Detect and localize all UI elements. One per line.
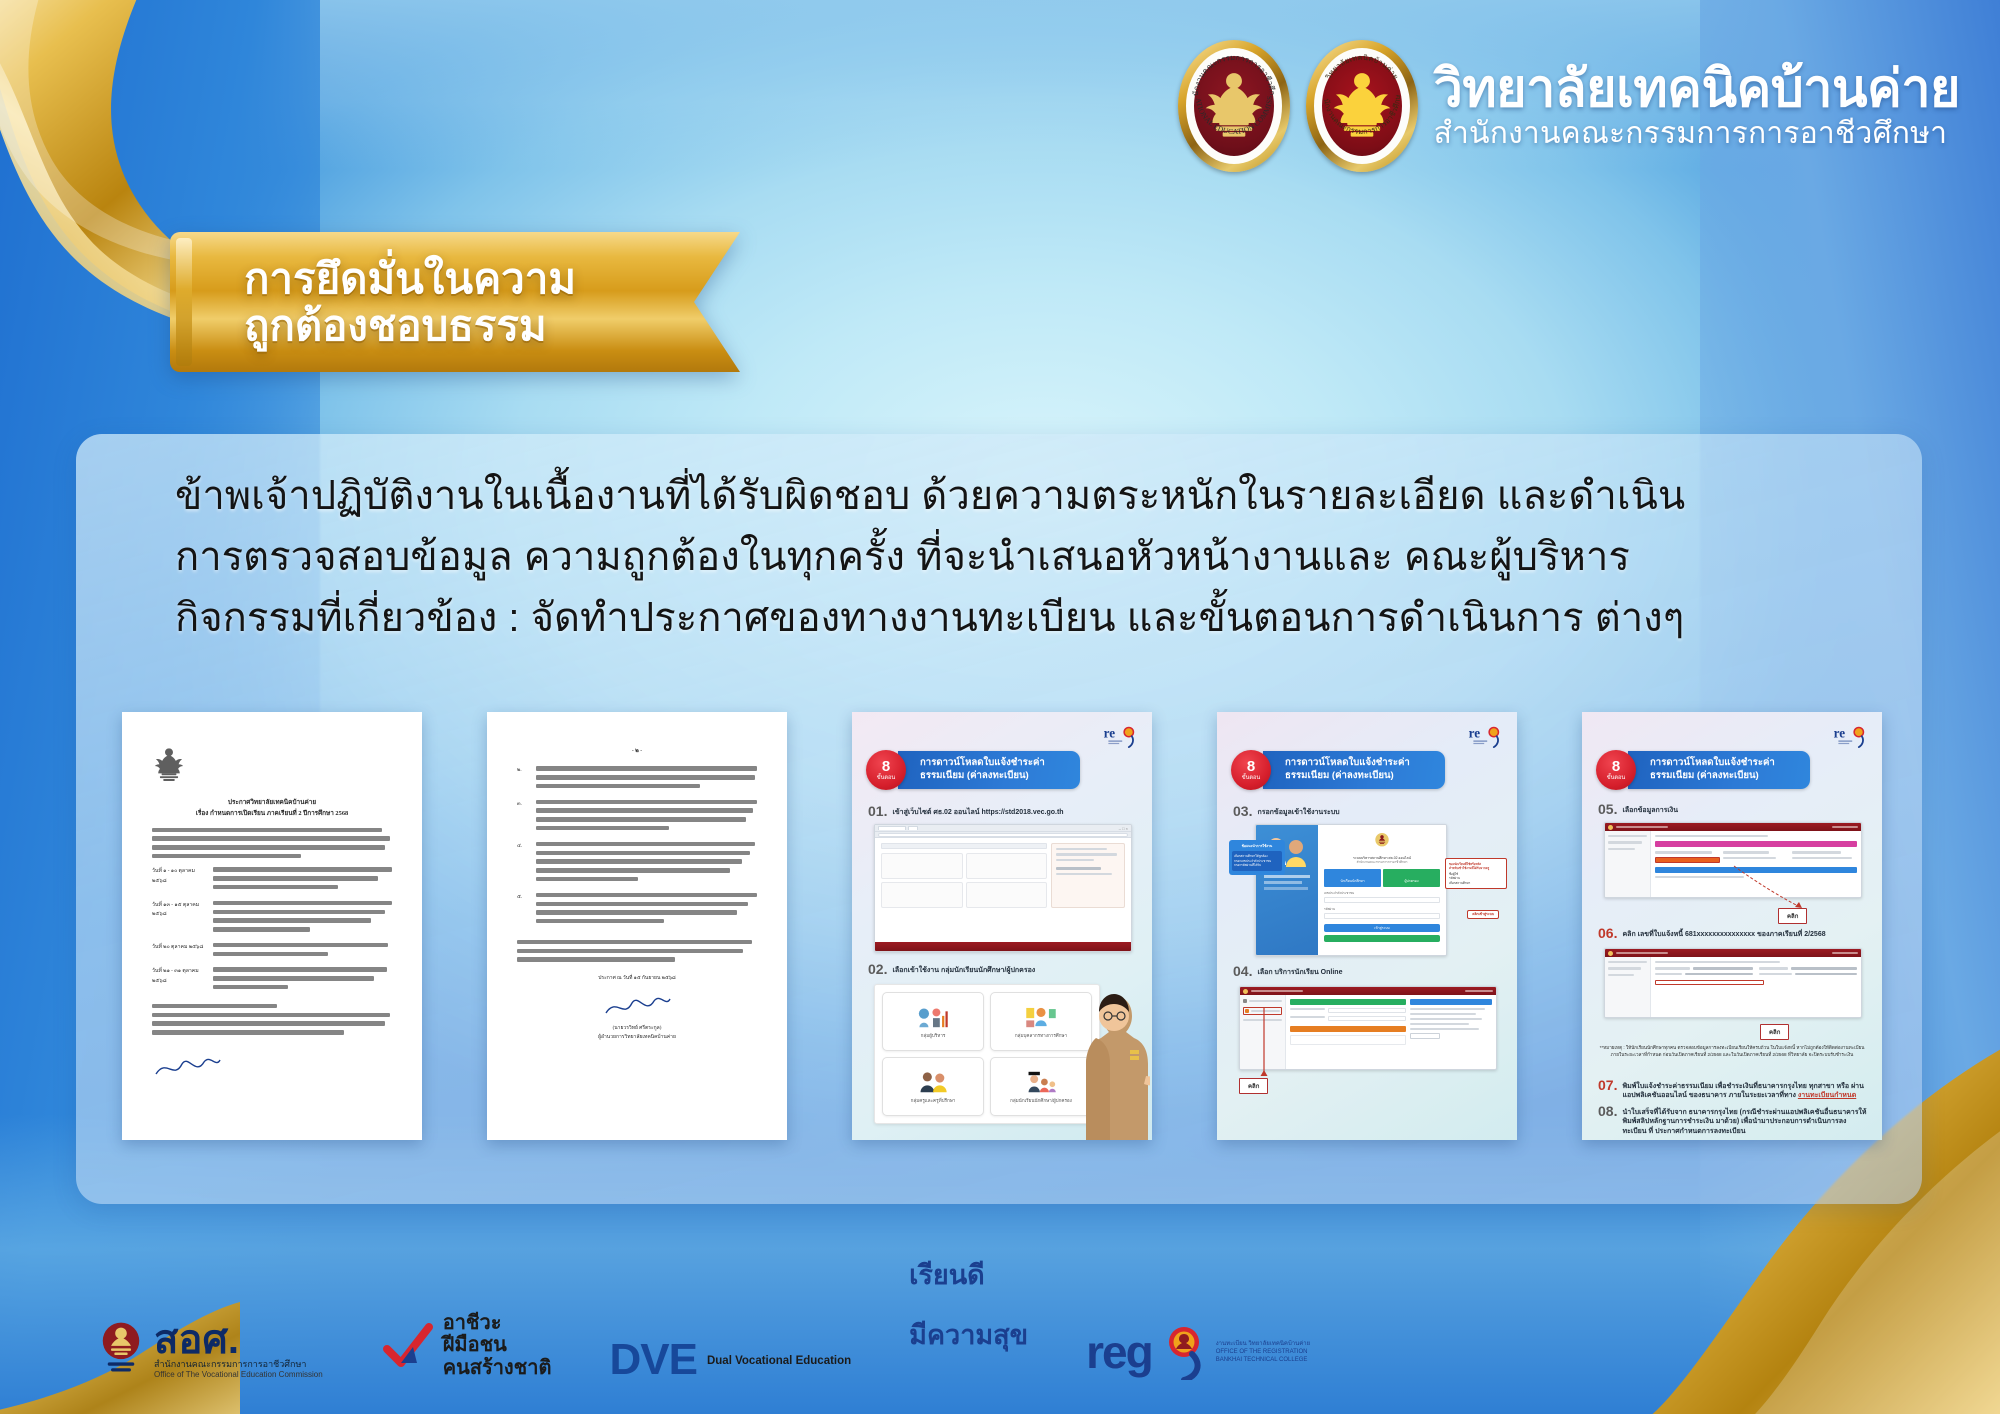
user-type-tile[interactable]: กลุ่มนักเรียนนักศึกษา/ผู้ปกครอง — [990, 1057, 1092, 1116]
banner-title: การยึดมั่นในความ ถูกต้องชอบธรรม — [244, 255, 576, 349]
achiwa-line-1: อาชีวะ — [443, 1312, 552, 1335]
garuda-icon — [152, 746, 186, 786]
doc1-heading-2: เรื่อง กำหนดการเปิดเรียน ภาคเรียนที่ 2 ป… — [152, 808, 392, 820]
login-heading-2: สำนักงานคณะกรรมการการอาชีวศึกษา — [1324, 860, 1440, 865]
admin-group-icon — [916, 1004, 950, 1030]
sosor-sub-en: Office of The Vocational Education Commi… — [154, 1370, 323, 1380]
section-banner: การยึดมั่นในความ ถูกต้องชอบธรรม — [170, 232, 740, 372]
browser-page — [875, 838, 1131, 952]
invoice-sidebar — [1605, 957, 1651, 1018]
step-number: 08. — [1598, 1104, 1617, 1118]
seal-ring-text-2: วิทยาลัยเทคนิคบ้านค่าย สำนักงานคณะกรรมกา… — [1312, 46, 1412, 146]
doc1-item: วันที่ ๒๑ - ๓๑ ตุลาคม ๒๕๖๘ — [152, 967, 392, 993]
dashboard-content — [1286, 995, 1496, 1070]
statement-line-2: การตรวจสอบข้อมูล ความถูกต้องในทุกครั้ง ท… — [175, 527, 1875, 588]
hint-right-title: ของนักเรียนที่ใช้หรือรหัส สำหรับเข้าใช้ง… — [1449, 862, 1503, 870]
finance-topbar — [1605, 823, 1861, 831]
sosor-sub-th: สำนักงานคณะกรรมการการอาชีวศึกษา — [154, 1359, 323, 1370]
slide3-note: **หมายเหตุ : ให้นักเรียนนักศึกษาทุกคน ตร… — [1598, 1044, 1866, 1059]
login-hint-left: ข้อแนะนำการใช้งาน เลือกสถานศึกษาให้ถูกต้… — [1229, 840, 1285, 875]
login-pass-label: รหัสผ่าน — [1324, 907, 1440, 912]
dve-caption: Dual Vocational Education — [707, 1355, 851, 1367]
doc2-item: ๕. — [517, 893, 757, 928]
doc2-item-label: ๓. — [517, 800, 531, 810]
step-text: เลือก บริการนักเรียน Online — [1257, 964, 1342, 977]
step-number: 04. — [1233, 964, 1252, 978]
statement-paragraph: ข้าพเจ้าปฏิบัติงานในเนื้องานที่ได้รับผิด… — [175, 466, 1875, 648]
doc2-item-label: ๔. — [517, 842, 531, 852]
browser-tab-bar: – □ × — [875, 825, 1131, 832]
rian-dee-logo: เรียนดี มีความสุข — [909, 1232, 1028, 1380]
reg-footer-logo: reg งานทะเบียน วิทยาลัยเทคนิคบ้านค่าย OF… — [1086, 1324, 1310, 1380]
slide1-browser-mock: – □ × — [874, 824, 1132, 952]
login-hint-right: ของนักเรียนที่ใช้หรือรหัส สำหรับเข้าใช้ง… — [1445, 858, 1507, 889]
login-hint-bottom: คลิกเข้าสู่ระบบ — [1467, 910, 1499, 919]
doc1-footer-note — [152, 1004, 392, 1035]
login-user-label: เลขประจำตัวประชาชน — [1324, 891, 1440, 896]
step-text: เข้าสู่เว็บไซต์ ศธ.02 ออนไลน์ https://st… — [892, 804, 1063, 817]
statement-line-1: ข้าพเจ้าปฏิบัติงานในเนื้องานที่ได้รับผิด… — [175, 466, 1875, 527]
document-thumbnail-2[interactable]: - ๒ - ๒. ๓. ๔. ๕. ประกาศ ณ วันที่ ๑๕ ก — [487, 712, 787, 1140]
college-name: วิทยาลัยเทคนิคบ้านค่าย — [1434, 62, 1960, 116]
invoice-number-link[interactable] — [1655, 980, 1764, 985]
slide3-title-block: 8 ขั้นตอน การดาวน์โหลดใบแจ้งชำระค่า ธรรม… — [1596, 750, 1810, 790]
login-user-input[interactable] — [1324, 897, 1440, 903]
slide3-title: การดาวน์โหลดใบแจ้งชำระค่า ธรรมเนียม (ค่า… — [1628, 751, 1810, 789]
sosor-main-label: สอศ. — [154, 1321, 323, 1359]
student-parent-group-icon — [1024, 1069, 1058, 1095]
dve-main-label: DVE — [609, 1340, 696, 1380]
svg-text:re: re — [1834, 726, 1846, 741]
svg-text:สำนักงานคณะกรรมการการอาชีวศึกษ: สำนักงานคณะกรรมการการอาชีวศึกษา — [1184, 46, 1277, 96]
signature-icon-2 — [602, 993, 672, 1019]
doc2-item-label: ๒. — [517, 766, 531, 776]
banner-plate: การยึดมั่นในความ ถูกต้องชอบธรรม — [170, 232, 740, 372]
doc2-sign-role: ผู้อำนวยการวิทยาลัยเทคนิคบ้านค่าย — [517, 1033, 757, 1042]
doc1-item-label: วันที่ ๑ - ๑๐ ตุลาคม ๒๕๖๘ — [152, 867, 208, 886]
doc1-item: วันที่ ๒๐ ตุลาคม ๒๕๖๘ — [152, 943, 392, 961]
slide3-step-07: 07. พิมพ์ใบแจ้งชำระค่าธรรมเนียม เพื่อชำร… — [1598, 1078, 1870, 1101]
slide2-title-block: 8 ขั้นตอน การดาวน์โหลดใบแจ้งชำระค่า ธรรม… — [1231, 750, 1445, 790]
infographic-slide-2[interactable]: re 8 ขั้นตอน การดาวน์โหลดใบแจ้งชำระค่า ธ… — [1217, 712, 1517, 1140]
badge-caption: ขั้นตอน — [1242, 775, 1260, 782]
header: สำนักงานคณะกรรมการการอาชีวศึกษา VOCATION… — [1178, 40, 1960, 172]
slide3-step-06: 06. คลิก เลขที่ใบแจ้งหนี้ 681xxxxxxxxxxx… — [1598, 926, 1870, 940]
step-number: 07. — [1598, 1078, 1617, 1092]
doc2-note — [517, 940, 757, 962]
sosor-logo: สอศ. สำนักงานคณะกรรมการการอาชีวศึกษา Off… — [96, 1321, 323, 1380]
reg-main-label: reg — [1086, 1325, 1152, 1379]
check-mark-icon — [381, 1319, 435, 1373]
step-text: เลือกข้อมูลการเงิน — [1622, 802, 1678, 815]
doc1-item-label: วันที่ ๒๐ ตุลาคม ๒๕๖๘ — [152, 943, 208, 953]
finance-selected-item[interactable] — [1655, 857, 1720, 863]
badge-number: 8 — [1247, 759, 1255, 774]
badge-caption: ขั้นตอน — [877, 775, 895, 782]
doc1-intro — [152, 828, 392, 859]
doc1-item-label: วันที่ ๑๓ - ๑๕ ตุลาคม ๒๕๖๘ — [152, 901, 208, 920]
reg-emblem-icon — [1158, 1324, 1210, 1380]
seal-ring-text: สำนักงานคณะกรรมการการอาชีวศึกษา VOCATION… — [1184, 46, 1284, 146]
achiwa-line-3: คนสร้างชาติ — [443, 1357, 552, 1380]
footer-logos: สอศ. สำนักงานคณะกรรมการการอาชีวศึกษา Off… — [96, 1232, 1310, 1380]
callout-arrow-icon — [1257, 1008, 1271, 1078]
badge-number: 8 — [1612, 759, 1620, 774]
hint-item: กรอกรหัสผ่านที่ได้รับ — [1234, 863, 1280, 868]
login-form: ระบบบริหารสถานศึกษา ศธ.02 ออนไลน์ สำนักง… — [1318, 825, 1446, 955]
dashboard-mock — [1239, 986, 1497, 1070]
infographic-slide-1[interactable]: re 8 ขั้นตอน การดาวน์โหลดใบแจ้งชำระค่า ธ… — [852, 712, 1152, 1140]
user-type-label: กลุ่มนักเรียนนักศึกษา/ผู้ปกครอง — [1010, 1098, 1072, 1104]
doc2-item: ๒. — [517, 766, 757, 792]
doc2-sign-block: ประกาศ ณ วันที่ ๑๕ กันยายน ๒๕๖๘ (นายวรวิ… — [517, 974, 757, 1042]
signature-icon — [152, 1054, 222, 1080]
browser-tab — [878, 826, 906, 831]
step-count-badge: 8 ขั้นตอน — [866, 750, 906, 790]
browser-footer-bar — [875, 942, 1131, 951]
badge-caption: ขั้นตอน — [1607, 775, 1625, 782]
slide3-step-08: 08. นำใบเสร็จที่ได้รับจาก ธนาคารกรุงไทย … — [1598, 1104, 1870, 1136]
slide3-step-05: 05. เลือกข้อมูลการเงิน — [1598, 802, 1678, 816]
hint-title: ข้อแนะนำการใช้งาน — [1232, 844, 1282, 848]
slide2-step-04: 04. เลือก บริการนักเรียน Online — [1233, 964, 1342, 978]
doc1-item: วันที่ ๑๓ - ๑๕ ตุลาคม ๒๕๖๘ — [152, 901, 392, 936]
step-number: 02. — [868, 962, 887, 976]
doc1-item-label: วันที่ ๒๑ - ๓๑ ตุลาคม ๒๕๖๘ — [152, 967, 208, 986]
reg-cap-1: งานทะเบียน วิทยาลัยเทคนิคบ้านค่าย — [1216, 1340, 1310, 1348]
reg-cap-2: OFFICE OF THE REGISTRATION — [1216, 1348, 1310, 1356]
reg-cap-3: BANKHAI TECHNICAL COLLEGE — [1216, 1356, 1310, 1364]
reg-logo-icon: re — [1833, 723, 1869, 749]
slide1-step-02: 02. เลือกเข้าใช้งาน กลุ่มนักเรียนนักศึกษ… — [868, 962, 1035, 976]
login-pass-input[interactable] — [1324, 913, 1440, 919]
step-text: เลือกเข้าใช้งาน กลุ่มนักเรียนนักศึกษา/ผู… — [892, 962, 1035, 975]
rian-line-1: เรียนดี — [909, 1261, 1028, 1291]
user-type-label: กลุ่มผู้บริหาร — [921, 1033, 946, 1039]
step-number: 06. — [1598, 926, 1617, 940]
slide2-title: การดาวน์โหลดใบแจ้งชำระค่า ธรรมเนียม (ค่า… — [1263, 751, 1445, 789]
doc1-heading-1: ประกาศวิทยาลัยเทคนิคบ้านค่าย — [152, 797, 392, 809]
step-text: พิมพ์ใบแจ้งชำระค่าธรรมเนียม เพื่อชำระเงิ… — [1622, 1078, 1870, 1101]
step-count-badge: 8 ขั้นตอน — [1231, 750, 1271, 790]
user-type-tile[interactable]: กลุ่มครูและครูที่ปรึกษา — [882, 1057, 984, 1116]
badge-number: 8 — [882, 759, 890, 774]
infographic-slide-3[interactable]: re 8 ขั้นตอน การดาวน์โหลดใบแจ้งชำระค่า ธ… — [1582, 712, 1882, 1140]
college-seal-icon: วิทยาลัยเทคนิคบ้านค่าย สำนักงานคณะกรรมกา… — [1306, 40, 1418, 172]
reg-logo-icon: re — [1468, 723, 1504, 749]
login-submit-button[interactable]: เข้าสู่ระบบ — [1324, 924, 1440, 932]
doc2-item: ๓. — [517, 800, 757, 835]
invoice-content — [1651, 957, 1861, 1018]
step-number: 01. — [868, 804, 887, 818]
tab-label: ผู้ปกครอง — [1403, 878, 1421, 884]
slide2-step-03: 03. กรอกข้อมูลเข้าใช้งานระบบ — [1233, 804, 1340, 818]
doc2-item-label: ๕. — [517, 893, 531, 903]
browser-url-field[interactable] — [878, 833, 1128, 837]
organization-title: วิทยาลัยเทคนิคบ้านค่าย สำนักงานคณะกรรมกา… — [1434, 62, 1960, 149]
step-number: 03. — [1233, 804, 1252, 818]
finance-sidebar — [1605, 831, 1651, 898]
invoice-list-mock — [1604, 948, 1862, 1018]
document-thumbnail-1[interactable]: ประกาศวิทยาลัยเทคนิคบ้านค่าย เรื่อง กำหน… — [122, 712, 422, 1140]
reg-logo-icon: re — [1103, 723, 1139, 749]
slide1-title: การดาวน์โหลดใบแจ้งชำระค่า ธรรมเนียม (ค่า… — [898, 751, 1080, 789]
finance-section-header — [1655, 841, 1857, 847]
dashboard-topbar — [1240, 987, 1496, 995]
statement-line-3: กิจกรรมที่เกี่ยวข้อง : จัดทำประกาศของทาง… — [175, 588, 1875, 649]
login-tab-parent[interactable]: ผู้ปกครอง — [1383, 869, 1440, 887]
achiwa-line-2: ฝีมือชน — [443, 1334, 552, 1357]
tab-label: นักเรียนนักศึกษา — [1338, 878, 1366, 884]
svg-text:re: re — [1104, 726, 1116, 741]
teacher-illustration-icon — [1078, 990, 1150, 1140]
doc2-sign-name: (นายวรวิทย์ ศรีตระกูล) — [517, 1024, 757, 1033]
rian-line-2: มีความสุข — [909, 1321, 1028, 1351]
doc1-item: วันที่ ๑ - ๑๐ ตุลาคม ๒๕๖๘ — [152, 867, 392, 893]
login-alt-button[interactable] — [1324, 935, 1440, 942]
button-label: เข้าสู่ระบบ — [1372, 925, 1391, 932]
vec-seal-icon: สำนักงานคณะกรรมการการอาชีวศึกษา VOCATION… — [1178, 40, 1290, 172]
user-type-label: กลุ่มบุคลากรทางการศึกษา — [1015, 1033, 1067, 1039]
step-text: นำใบเสร็จที่ได้รับจาก ธนาคารกรุงไทย (กรณ… — [1622, 1104, 1870, 1136]
doc2-item: ๔. — [517, 842, 757, 886]
teacher-group-icon — [916, 1069, 950, 1095]
login-tab-student[interactable]: นักเรียนนักศึกษา — [1324, 869, 1381, 887]
doc2-sign-place: ประกาศ ณ วันที่ ๑๕ กันยายน ๒๕๖๘ — [517, 974, 757, 983]
evidence-photo-row: ประกาศวิทยาลัยเทคนิคบ้านค่าย เรื่อง กำหน… — [122, 712, 1882, 1152]
slide3-callout-click-1: คลิก — [1778, 908, 1807, 924]
step-number: 05. — [1598, 802, 1617, 816]
staff-group-icon — [1024, 1004, 1058, 1030]
slide1-step-01: 01. เข้าสู่เว็บไซต์ ศธ.02 ออนไลน์ https:… — [868, 804, 1064, 818]
browser-new-tab — [908, 826, 918, 831]
invoice-topbar — [1605, 949, 1861, 957]
doc2-heading: - ๒ - — [517, 746, 757, 756]
garuda-emblem-footer-icon — [96, 1321, 146, 1379]
user-type-label: กลุ่มครูและครูที่ปรึกษา — [911, 1098, 956, 1104]
user-type-grid: กลุ่มผู้บริหาร กลุ่มบุคลากรทางการศึกษา ก… — [882, 992, 1092, 1116]
step-link[interactable]: งานทะเบียนกำหนด — [1798, 1092, 1856, 1099]
dve-logo: DVE Dual Vocational Education — [609, 1340, 851, 1380]
ministry-emblem-icon — [1374, 832, 1390, 850]
step-count-badge: 8 ขั้นตอน — [1596, 750, 1636, 790]
user-type-tile[interactable]: กลุ่มบุคลากรทางการศึกษา — [990, 992, 1092, 1051]
step-text: กรอกข้อมูลเข้าใช้งานระบบ — [1257, 804, 1339, 817]
slide1-title-block: 8 ขั้นตอน การดาวน์โหลดใบแจ้งชำระค่า ธรรม… — [866, 750, 1080, 790]
achiwa-logo: อาชีวะ ฝีมือชน คนสร้างชาติ — [381, 1312, 552, 1380]
slide3-callout-click-2: คลิก — [1760, 1024, 1789, 1040]
svg-text:วิทยาลัยเทคนิคบ้านค่าย: วิทยาลัยเทคนิคบ้านค่าย — [1323, 53, 1400, 82]
commission-name: สำนักงานคณะกรรมการการอาชีวศึกษา — [1434, 118, 1960, 149]
svg-text:re: re — [1469, 726, 1481, 741]
user-type-tile[interactable]: กลุ่มผู้บริหาร — [882, 992, 984, 1051]
step-text: คลิก เลขที่ใบแจ้งหนี้ 681xxxxxxxxxxxxxxx… — [1622, 926, 1825, 939]
slide2-callout-click: คลิก — [1239, 1078, 1268, 1094]
window-controls-icon: – □ × — [1119, 826, 1128, 831]
hint-right-item: เลือกสถานศึกษา — [1449, 881, 1503, 885]
